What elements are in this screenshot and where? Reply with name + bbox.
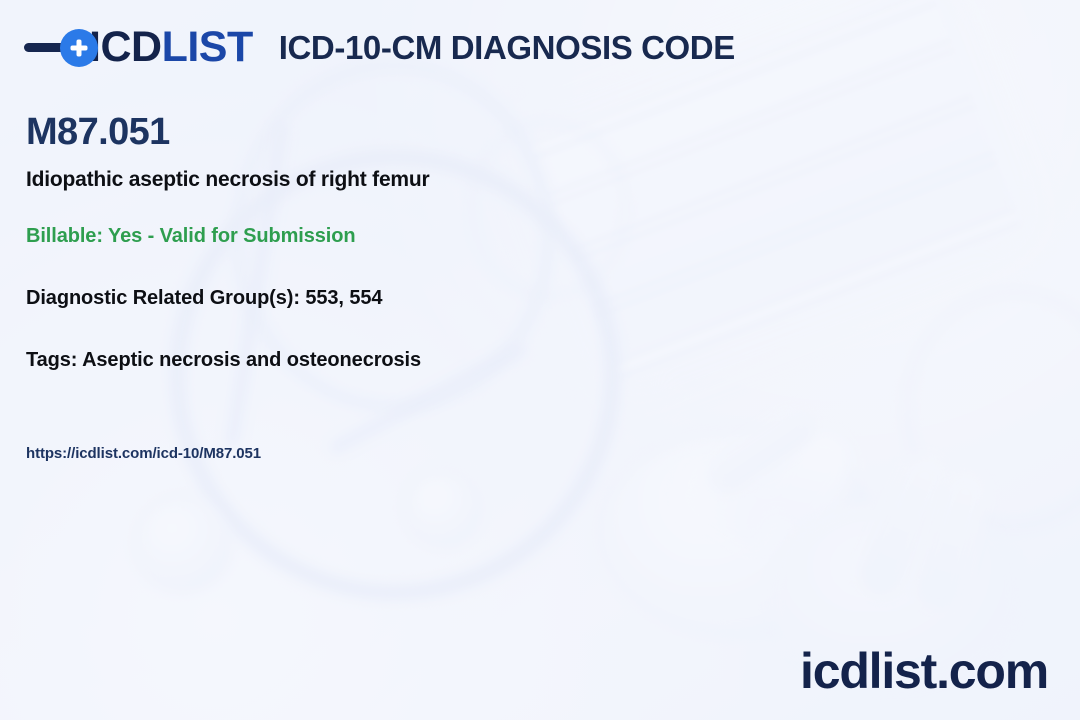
plus-icon — [60, 29, 98, 67]
diagnosis-tags: Tags: Aseptic necrosis and osteonecrosis — [26, 348, 421, 372]
logo-word-icd: ICD — [89, 23, 162, 71]
page-title: ICD-10-CM DIAGNOSIS CODE — [279, 29, 735, 67]
icdlist-logo[interactable]: ICDLIST — [24, 26, 253, 69]
diagnosis-description: Idiopathic aseptic necrosis of right fem… — [26, 167, 430, 192]
icd-code-card: ICDLIST ICD-10-CM DIAGNOSIS CODE M87.051… — [0, 0, 1080, 720]
source-url[interactable]: https://icdlist.com/icd-10/M87.051 — [26, 445, 261, 463]
diagnostic-related-group: Diagnostic Related Group(s): 553, 554 — [26, 286, 382, 310]
logo-word-list: LIST — [162, 23, 253, 71]
page-header: ICDLIST ICD-10-CM DIAGNOSIS CODE — [24, 26, 735, 69]
billable-status: Billable: Yes - Valid for Submission — [26, 224, 355, 248]
diagnosis-code: M87.051 — [26, 113, 170, 151]
logo-wordmark: ICDLIST — [89, 26, 253, 69]
card-content: ICDLIST ICD-10-CM DIAGNOSIS CODE M87.051… — [0, 0, 1080, 720]
brand-footer: icdlist.com — [800, 646, 1048, 696]
